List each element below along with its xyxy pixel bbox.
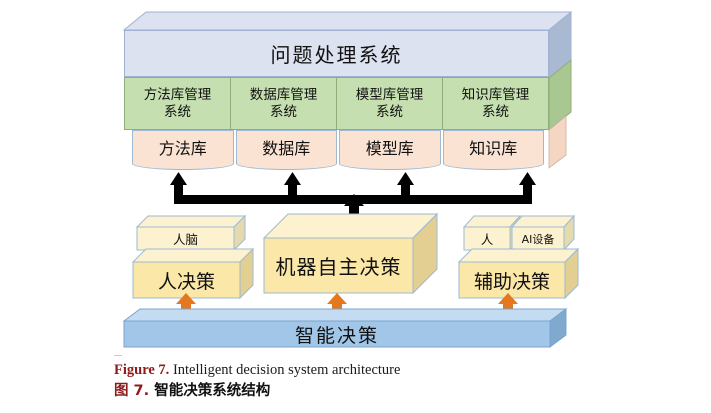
repository-cylinders-row: 方法库 数据库 模型库 知识库 bbox=[132, 130, 544, 170]
mgmt-box-method: 方法库管理 系统 bbox=[124, 77, 231, 130]
mgmt-model-line1: 模型库管理 bbox=[356, 87, 424, 104]
mgmt-box-model: 模型库管理 系统 bbox=[336, 77, 443, 130]
mgmt-box-knowledge: 知识库管理 系统 bbox=[442, 77, 549, 130]
cylinder-model-label: 模型库 bbox=[339, 133, 441, 161]
cylinder-model-library: 模型库 bbox=[339, 130, 441, 170]
mgmt-model-line2: 系统 bbox=[356, 104, 424, 121]
problem-processing-system-label: 问题处理系统 bbox=[271, 39, 403, 68]
machine-autonomous-decision-label: 机器自主决策 bbox=[264, 238, 413, 293]
intelligent-decision-label: 智能决策 bbox=[124, 321, 550, 347]
top-stack: 问题处理系统 方法库管理 系统 数据库管理 系统 bbox=[124, 12, 549, 172]
caption-en-lead: Figure 7. bbox=[114, 362, 169, 378]
cylinder-database-library: 数据库 bbox=[236, 130, 338, 170]
mgmt-method-line1: 方法库管理 bbox=[144, 87, 212, 104]
ai-equipment-label: AI设备 bbox=[512, 227, 564, 250]
cylinder-knowledge-label: 知识库 bbox=[443, 133, 545, 161]
divider-line bbox=[114, 355, 122, 356]
mgmt-knowledge-line1: 知识库管理 bbox=[462, 87, 530, 104]
diagram-stage: 问题处理系统 方法库管理 系统 数据库管理 系统 bbox=[0, 0, 711, 360]
cylinder-method-library: 方法库 bbox=[132, 130, 234, 170]
caption-en-text: Intelligent decision system architecture bbox=[173, 362, 401, 378]
caption-chinese: 图 7. 智能决策系统结构 bbox=[114, 381, 674, 402]
mgmt-method-line2: 系统 bbox=[144, 104, 212, 121]
caption-zh-text: 智能决策系统结构 bbox=[154, 383, 270, 399]
caption-zh-lead: 图 7. bbox=[114, 383, 149, 399]
human-brain-label: 人脑 bbox=[137, 227, 234, 250]
management-systems-row: 方法库管理 系统 数据库管理 系统 模型库管理 系统 bbox=[124, 77, 549, 130]
figure-caption: Figure 7. Intelligent decision system ar… bbox=[114, 361, 674, 402]
caption-english: Figure 7. Intelligent decision system ar… bbox=[114, 361, 674, 381]
mgmt-box-database: 数据库管理 系统 bbox=[230, 77, 337, 130]
mgmt-database-line1: 数据库管理 bbox=[250, 87, 318, 104]
human-label: 人 bbox=[464, 227, 510, 250]
cylinder-knowledge-library: 知识库 bbox=[443, 130, 545, 170]
cylinder-method-label: 方法库 bbox=[132, 133, 234, 161]
problem-processing-system-box: 问题处理系统 bbox=[124, 30, 549, 77]
cylinder-database-label: 数据库 bbox=[236, 133, 338, 161]
mgmt-knowledge-line2: 系统 bbox=[462, 104, 530, 121]
figure-container: 问题处理系统 方法库管理 系统 数据库管理 系统 bbox=[0, 0, 711, 413]
mgmt-database-line2: 系统 bbox=[250, 104, 318, 121]
